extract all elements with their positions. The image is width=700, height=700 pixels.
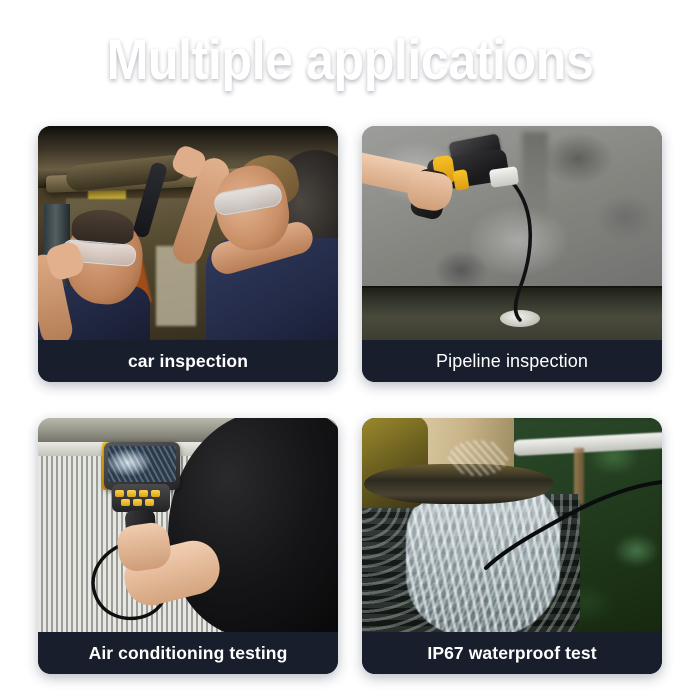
card-caption-pipeline-inspection: Pipeline inspection xyxy=(362,340,662,382)
application-card-ip67-waterproof-test[interactable]: IP67 waterproof test xyxy=(362,418,662,674)
pipeline-inspection-photo xyxy=(362,126,662,340)
endoscope-button xyxy=(139,490,148,497)
application-card-grid: car inspection Pipeline inspection xyxy=(38,126,662,674)
endoscope-buttons xyxy=(115,490,167,506)
card-caption-ip67-waterproof-test: IP67 waterproof test xyxy=(362,632,662,674)
endoscope-button xyxy=(127,490,136,497)
air-conditioning-photo xyxy=(38,418,338,632)
yellow-marking xyxy=(88,190,126,199)
card-caption-car-inspection: car inspection xyxy=(38,340,338,382)
endoscope-button xyxy=(151,490,160,497)
endoscope-button xyxy=(121,499,130,506)
application-card-air-conditioning-testing[interactable]: Air conditioning testing xyxy=(38,418,338,674)
endoscope-cable-submerged xyxy=(362,418,662,632)
page-title: Multiple applications xyxy=(42,26,658,94)
endoscope-nose xyxy=(489,166,519,188)
application-card-car-inspection[interactable]: car inspection xyxy=(38,126,338,382)
endoscope-accent-lower xyxy=(453,169,470,191)
ip67-waterproof-photo xyxy=(362,418,662,632)
endoscope-button xyxy=(133,499,142,506)
application-card-pipeline-inspection[interactable]: Pipeline inspection xyxy=(362,126,662,382)
endoscope-button xyxy=(115,490,124,497)
car-inspection-photo xyxy=(38,126,338,340)
endoscope-cable xyxy=(362,126,662,340)
endoscope-lcd-screen xyxy=(108,446,176,482)
card-caption-air-conditioning-testing: Air conditioning testing xyxy=(38,632,338,674)
endoscope-button xyxy=(145,499,154,506)
